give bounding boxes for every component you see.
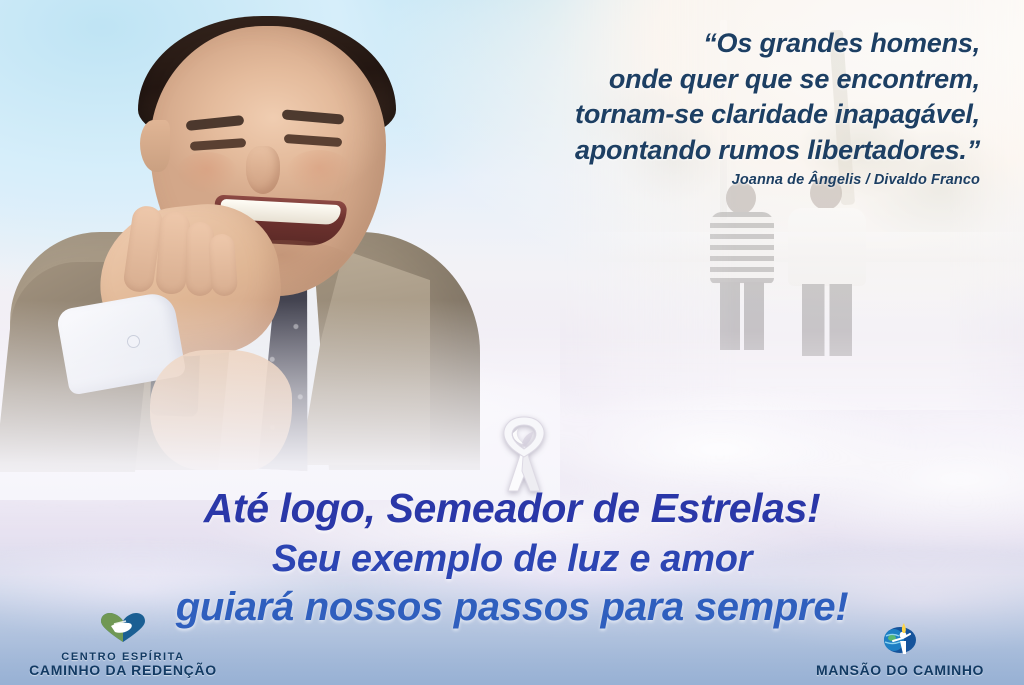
portrait-cloud-fade <box>0 300 560 500</box>
person-torso-shape <box>788 208 866 286</box>
headline-line-2: Seu exemplo de luz e amor <box>0 540 1024 578</box>
headline-line-1: Até logo, Semeador de Estrelas! <box>0 488 1024 529</box>
heart-hand-icon <box>8 613 238 648</box>
logo-mansao-do-caminho: MANSÃO DO CAMINHO <box>790 621 1010 679</box>
quote-line-3: tornam-se claridade inapagável, <box>420 97 980 133</box>
quote-line-4: apontando rumos libertadores.” <box>420 133 980 169</box>
headline-block: Até logo, Semeador de Estrelas! Seu exem… <box>0 488 1024 627</box>
white-ribbon-icon <box>488 413 560 493</box>
logo-centro-espirita: CENTRO ESPÍRITA CAMINHO DA REDENÇÃO <box>8 613 238 679</box>
cheek-left-shape <box>176 152 238 194</box>
globe-figure-flame-icon <box>790 621 1010 660</box>
quote-line-1: “Os grandes homens, <box>420 26 980 62</box>
person-torso-shape <box>710 212 774 284</box>
quote-attribution: Joanna de Ângelis / Divaldo Franco <box>420 172 980 188</box>
quote-line-2: onde quer que se encontrem, <box>420 62 980 98</box>
background-person-white-shirt <box>788 176 868 356</box>
cheek-right-shape <box>286 150 352 194</box>
nose-shape <box>246 146 280 194</box>
finger-shape <box>208 233 238 297</box>
background-person-striped <box>708 182 776 350</box>
quote-block: “Os grandes homens, onde quer que se enc… <box>420 26 980 169</box>
logo-left-text: CENTRO ESPÍRITA CAMINHO DA REDENÇÃO <box>8 651 238 679</box>
logo-left-line-2: CAMINHO DA REDENÇÃO <box>8 663 238 679</box>
logo-right-text: MANSÃO DO CAMINHO <box>790 663 1010 679</box>
logo-right-line-2: MANSÃO DO CAMINHO <box>790 663 1010 679</box>
ear-shape <box>140 120 170 172</box>
memorial-poster: “Os grandes homens, onde quer que se enc… <box>0 0 1024 685</box>
